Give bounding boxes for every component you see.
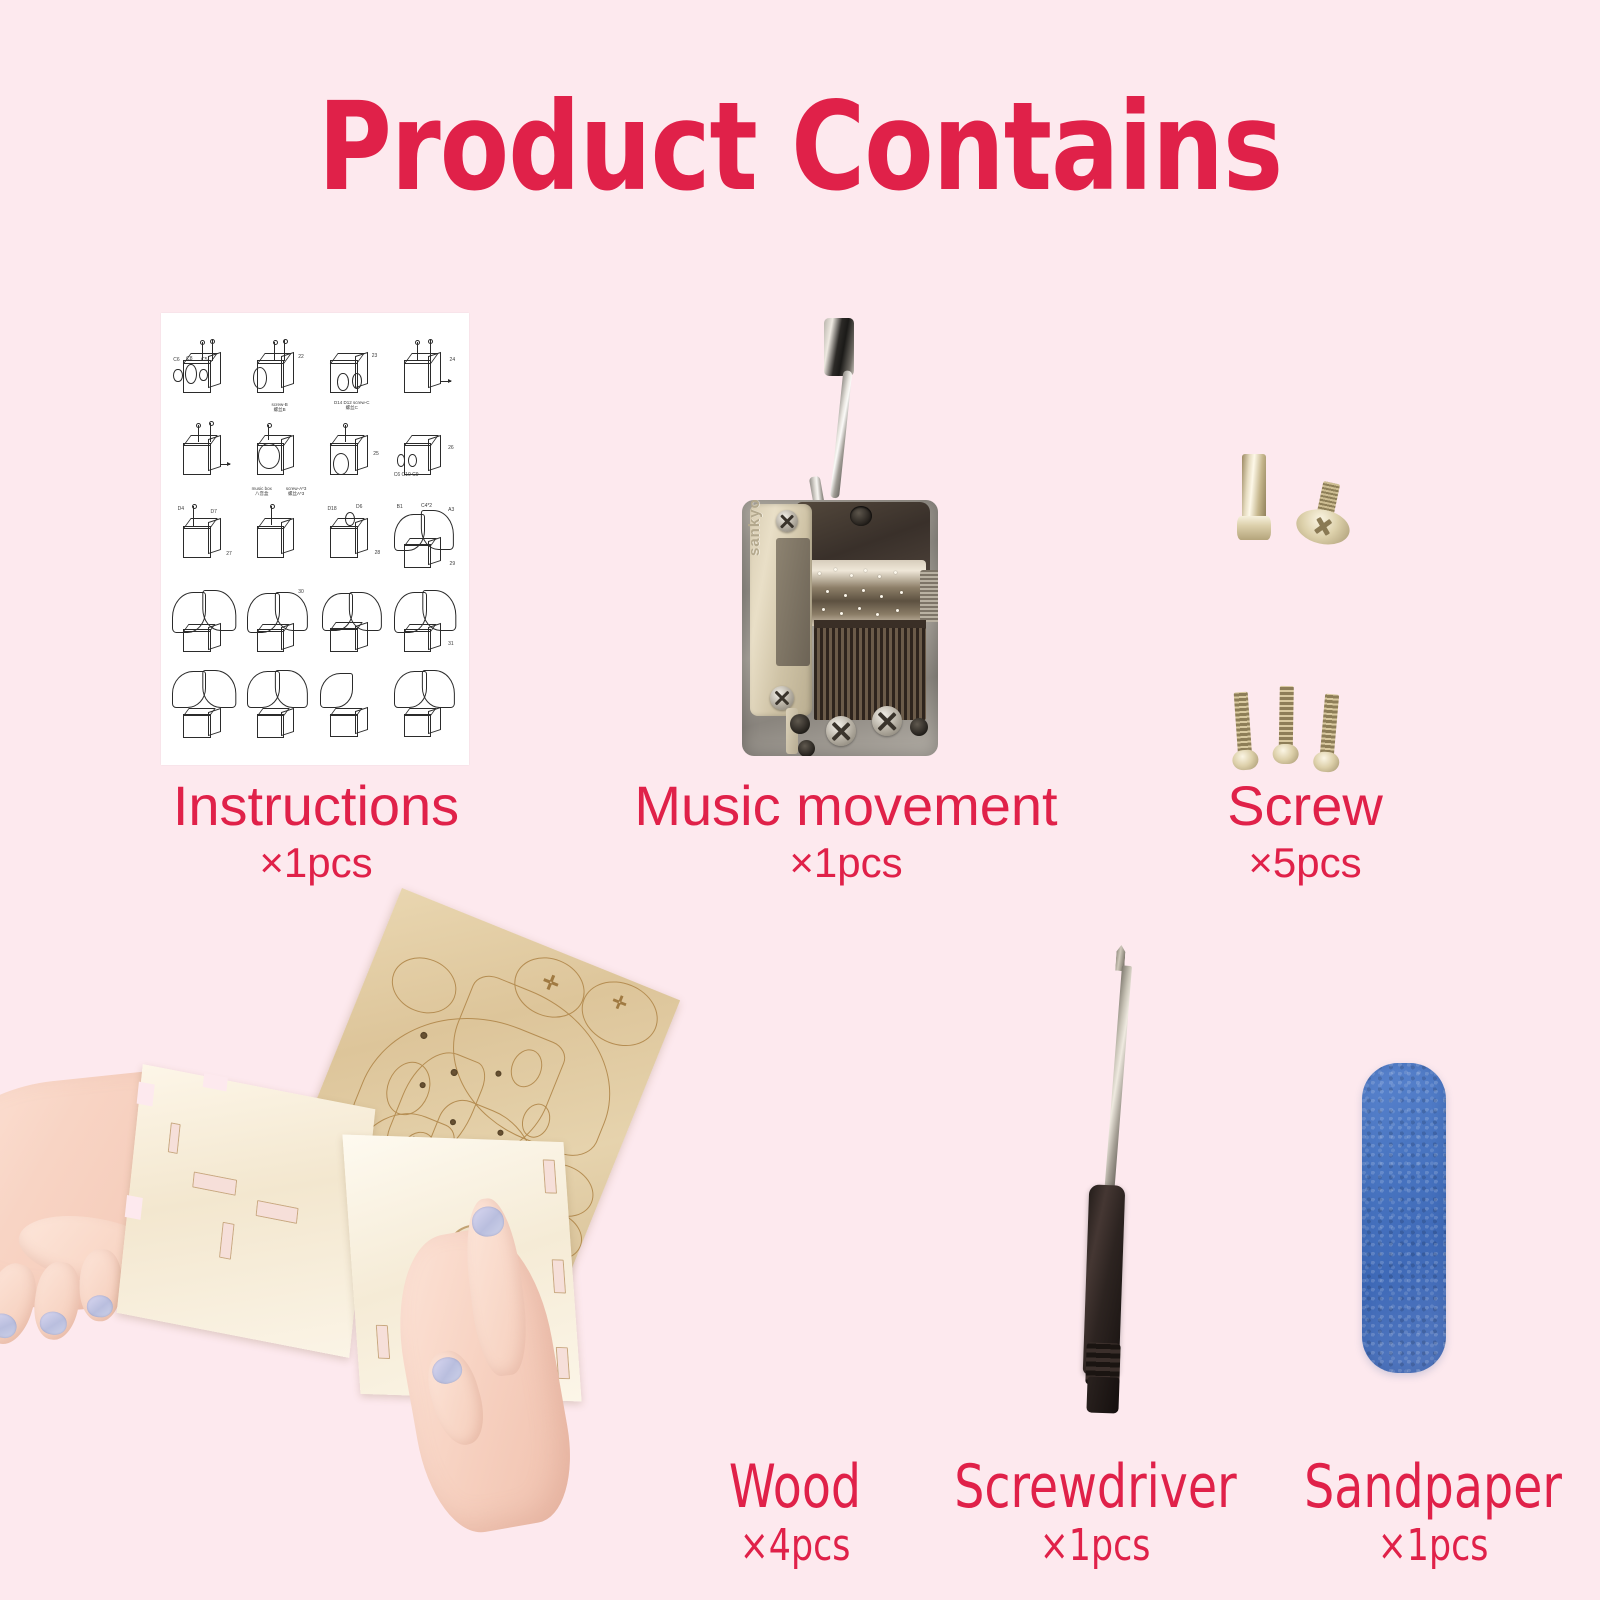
small-screw-2 — [1272, 686, 1300, 782]
plain-wood-panel-left — [117, 1064, 376, 1358]
screwdriver-shaft — [1104, 965, 1132, 1195]
music-drum-cylinder — [804, 560, 926, 626]
item-name-sandpaper: Sandpaper — [1288, 1455, 1578, 1519]
instruction-diagram-row: C6 C8 C5 screw-B螺丝B 22 — [169, 337, 461, 416]
label-wood: Wood ×4pcs — [645, 1455, 945, 1573]
label-screw: Screw ×5pcs — [1145, 775, 1465, 889]
sandpaper-image — [1362, 1063, 1446, 1373]
screw-thread — [1319, 694, 1339, 761]
fingernail — [470, 1205, 505, 1239]
instruction-diagram-row: D4 D7 27 D18 D6 28 — [169, 503, 461, 582]
instruction-diagram-cell: C6 C10 C9 26 — [390, 420, 462, 499]
binding-post-screw-upright — [1237, 454, 1271, 546]
instruction-diagram-cell — [243, 503, 315, 582]
fingernail — [429, 1354, 465, 1387]
movement-mounting-hole — [850, 506, 872, 526]
fingernail — [38, 1310, 68, 1337]
screw-head — [1272, 744, 1298, 764]
item-qty-screw: ×5pcs — [1145, 837, 1465, 889]
tuned-comb-teeth — [814, 628, 926, 720]
screw-head — [1237, 516, 1271, 540]
screw-head — [1312, 751, 1340, 773]
label-instructions: Instructions ×1pcs — [131, 775, 501, 889]
movement-brand-text: sankyo — [746, 500, 763, 556]
bracket-slot — [776, 538, 810, 666]
instruction-diagram-cell — [169, 668, 241, 747]
instruction-diagram-cell: 24 — [390, 337, 462, 416]
instruction-diagram-cell: 31 — [390, 585, 462, 664]
screw-head — [1232, 749, 1259, 771]
crank-knob — [824, 318, 854, 376]
fingernail — [0, 1310, 20, 1341]
instruction-diagram-cell — [390, 668, 462, 747]
worm-gear — [920, 570, 938, 622]
label-screwdriver: Screwdriver ×1pcs — [935, 1455, 1255, 1573]
instruction-diagram-row — [169, 668, 461, 747]
instruction-diagram-grid: C6 C8 C5 screw-B螺丝B 22 — [169, 337, 461, 747]
item-name-screw: Screw — [1145, 775, 1465, 837]
wood-panels-image: ✛ ✛ ✛ ✛ ✛ — [0, 930, 780, 1490]
item-qty-screwdriver: ×1pcs — [954, 1519, 1236, 1573]
instruction-diagram-cell: D18 D6 28 — [316, 503, 388, 582]
instruction-diagram-cell — [169, 585, 241, 664]
finger — [30, 1259, 84, 1342]
label-music-movement: Music movement ×1pcs — [596, 775, 1096, 889]
music-movement-image: sankyo — [718, 318, 958, 758]
phillips-screw-bottom-1 — [826, 716, 856, 746]
screw-barrel — [1242, 454, 1266, 524]
item-qty-instructions: ×1pcs — [131, 837, 501, 889]
instruction-diagram-cell: 25 — [316, 420, 388, 499]
movement-body: sankyo — [742, 500, 938, 756]
item-qty-sandpaper: ×1pcs — [1288, 1519, 1578, 1573]
item-qty-music-movement: ×1pcs — [596, 837, 1096, 889]
phillips-screw-bottom-2 — [872, 706, 902, 736]
instruction-diagram-cell: screw-B螺丝B 22 — [243, 337, 315, 416]
phillips-screw-top-left — [776, 510, 798, 532]
instruction-diagram-cell — [169, 420, 241, 499]
instruction-diagram-cell: B1 C4*2 A3 29 — [390, 503, 462, 582]
screwdriver-handle-end — [1086, 1376, 1119, 1413]
screwdriver-image — [1080, 945, 1150, 1415]
instruction-diagram-row: 30 31 — [169, 585, 461, 664]
instruction-diagram-cell — [316, 668, 388, 747]
instruction-diagram-cell — [316, 585, 388, 664]
rivet-right — [910, 718, 928, 736]
instruction-diagram-row: music box八音盒 screw-A*3螺丝A*3 25 C6 C10 C9… — [169, 420, 461, 499]
instruction-diagram-cell: D14 D12 screw-C螺丝C 23 — [316, 337, 388, 416]
screw-phillips-head — [1293, 505, 1353, 549]
instruction-diagram-cell: D4 D7 27 — [169, 503, 241, 582]
fingernail — [86, 1295, 113, 1318]
item-name-wood: Wood — [663, 1455, 927, 1519]
binding-post-screw-tilted — [1289, 477, 1358, 566]
label-sandpaper: Sandpaper ×1pcs — [1268, 1455, 1598, 1573]
instruction-diagram-cell: 30 — [243, 585, 315, 664]
rivet-left-2 — [798, 740, 815, 756]
instruction-diagram-cell — [243, 668, 315, 747]
item-qty-wood: ×4pcs — [663, 1519, 927, 1573]
crank-arm — [830, 370, 852, 498]
item-name-screwdriver: Screwdriver — [954, 1455, 1236, 1519]
instruction-sheet-image: C6 C8 C5 screw-B螺丝B 22 — [161, 313, 469, 765]
rivet-left — [790, 714, 810, 734]
page-title: Product Contains — [64, 88, 1536, 206]
instruction-diagram-cell: C6 C8 C5 — [169, 337, 241, 416]
instruction-diagram-cell: music box八音盒 screw-A*3螺丝A*3 — [243, 420, 315, 499]
product-contains-infographic: Product Contains C6 C8 C5 — [0, 0, 1600, 1600]
phillips-screw-bottom-left — [770, 686, 794, 710]
item-name-instructions: Instructions — [131, 775, 501, 837]
screw-thread — [1234, 692, 1253, 759]
screws-image — [1215, 440, 1405, 790]
item-name-music-movement: Music movement — [596, 775, 1096, 837]
screw-thread — [1279, 686, 1294, 752]
